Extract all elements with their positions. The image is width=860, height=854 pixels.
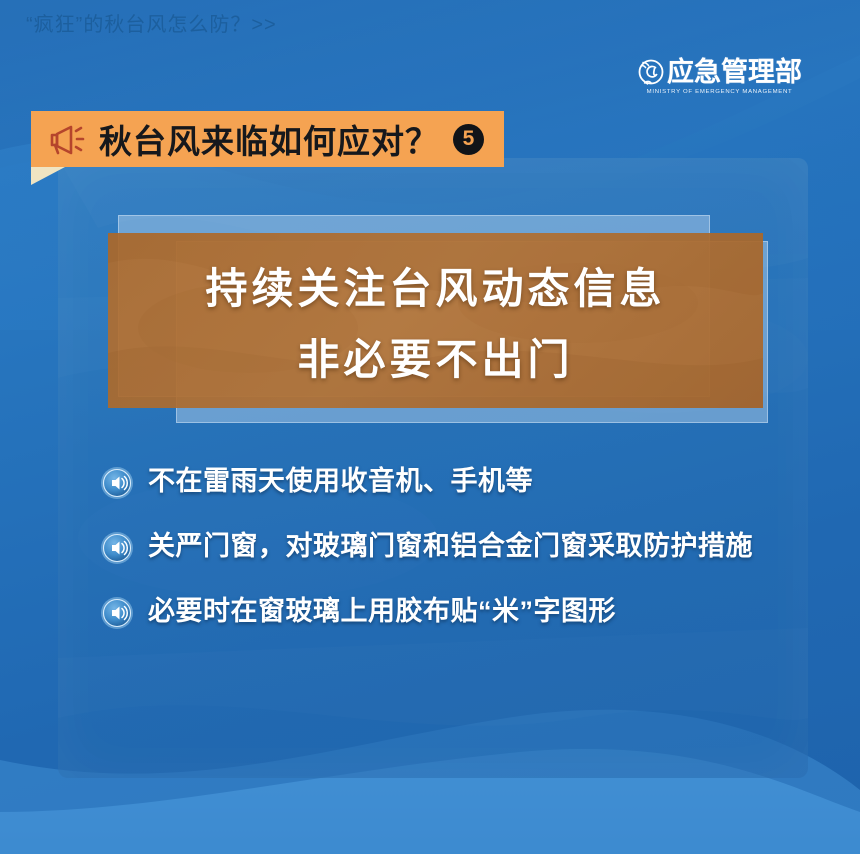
headline-block: 持续关注台风动态信息 非必要不出门 <box>108 215 788 423</box>
list-item: 必要时在窗玻璃上用胶布贴“米”字图形 <box>100 592 760 631</box>
speaker-icon <box>100 466 134 500</box>
list-item-text: 关严门窗，对玻璃门窗和铝合金门窗采取防护措施 <box>148 527 753 566</box>
headline-line-1: 持续关注台风动态信息 <box>205 255 665 316</box>
poster-canvas: “疯狂”的秋台风怎么防？>> 应急管理部 MINISTRY OF EMERGEN… <box>0 0 860 854</box>
top-headline: “疯狂”的秋台风怎么防？>> <box>26 8 277 37</box>
headline-panel: 持续关注台风动态信息 非必要不出门 <box>108 233 763 408</box>
section-banner: 秋台风来临如何应对？ 5 <box>31 111 504 167</box>
at-sign-wifi-icon <box>637 58 665 86</box>
banner-title: 秋台风来临如何应对？ <box>99 115 439 163</box>
banner-fold-decoration <box>31 167 65 185</box>
logo-name-en: MINISTRY OF EMERGENCY MANAGEMENT <box>637 89 802 95</box>
logo-main-row: 应急管理部 <box>637 58 802 86</box>
list-item: 关严门窗，对玻璃门窗和铝合金门窗采取防护措施 <box>100 527 760 566</box>
megaphone-icon <box>47 122 87 156</box>
speaker-icon <box>100 596 134 630</box>
ministry-logo: 应急管理部 MINISTRY OF EMERGENCY MANAGEMENT <box>637 58 802 95</box>
headline-line-2: 非必要不出门 <box>297 326 573 387</box>
bullet-list: 不在雷雨天使用收音机、手机等 关严门窗，对玻璃门窗和铝合金门窗采取防护措施 <box>100 462 760 657</box>
list-item: 不在雷雨天使用收音机、手机等 <box>100 462 760 501</box>
list-item-text: 不在雷雨天使用收音机、手机等 <box>148 462 533 501</box>
list-item-text: 必要时在窗玻璃上用胶布贴“米”字图形 <box>148 592 616 631</box>
logo-name-cn: 应急管理部 <box>667 59 802 86</box>
banner-step-number: 5 <box>453 124 484 155</box>
speaker-icon <box>100 531 134 565</box>
